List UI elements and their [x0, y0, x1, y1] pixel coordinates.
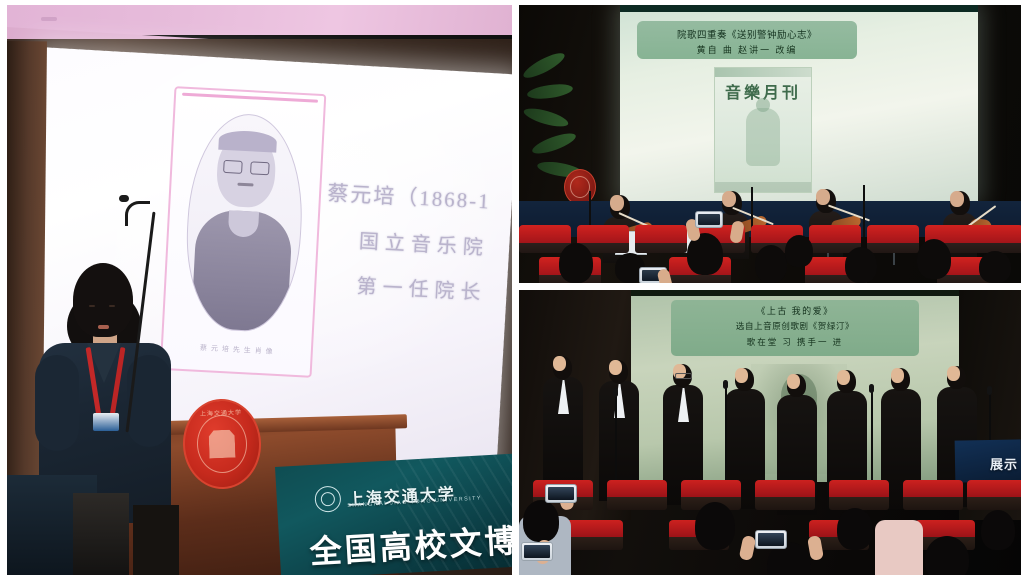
- singer-face: [787, 374, 800, 389]
- microphone-stand: [871, 390, 873, 482]
- emblem-ring-text: 上海交通大学: [184, 407, 258, 419]
- audience-head: [837, 508, 873, 550]
- audience-head: [981, 510, 1015, 550]
- singer-face: [837, 370, 850, 385]
- microphone-icon: [613, 388, 618, 397]
- phone-screen: [548, 487, 574, 500]
- audience-head: [845, 247, 877, 283]
- magazine-cover-image: 音樂月刊: [714, 67, 812, 193]
- phone-screen: [698, 214, 720, 225]
- auditorium-seat: [915, 520, 975, 537]
- glasses-icon: [223, 160, 270, 173]
- audience-hand: [739, 535, 757, 561]
- phone-screen: [758, 533, 784, 546]
- speaker-mouth: [98, 325, 109, 329]
- audience-head: [695, 502, 735, 550]
- auditorium-seat: [971, 225, 1021, 243]
- microphone-gooseneck: [125, 201, 150, 226]
- portrait-caption: 蔡 元 培 先 生 肖 像: [185, 343, 289, 359]
- slide-text-block: 蔡元培（1868-1 国立音乐院 第一任院长: [322, 177, 512, 309]
- singer-face: [609, 360, 622, 375]
- auditorium-seat: [829, 480, 889, 497]
- foreground-column: [133, 505, 179, 575]
- auditorium-seat: [809, 225, 861, 243]
- smartphone-icon: [521, 542, 553, 561]
- auditorium-seat: [563, 520, 623, 537]
- performer-face: [950, 191, 964, 207]
- auditorium-seat: [577, 225, 629, 243]
- slide-line-2: 国立音乐院: [358, 225, 512, 264]
- ceiling-vent-icon: [41, 17, 57, 21]
- plant-leaf: [521, 49, 568, 82]
- foreground-object-mid: [73, 493, 129, 575]
- singer-face: [553, 356, 566, 371]
- slide-caption-line-1: 院歌四重奏《送别警钟励心志》: [647, 27, 847, 41]
- audience-head: [917, 239, 951, 279]
- microphone-icon: [723, 380, 728, 389]
- audience-area: [519, 219, 1021, 283]
- speaker-eye-left: [89, 305, 95, 307]
- auditorium-seat: [903, 480, 963, 497]
- magazine-header-bar: [715, 68, 811, 77]
- microphone-icon: [119, 195, 129, 202]
- exhibition-banner-text: 展示: [990, 454, 1018, 473]
- smartphone-icon: [545, 484, 577, 503]
- audience-head: [785, 235, 813, 267]
- plant-leaf: [530, 130, 578, 158]
- auditorium-seat: [967, 480, 1021, 497]
- auditorium-seat: [635, 225, 687, 243]
- slide-caption-line-2: 黄自 曲 赵讲一 改编: [647, 43, 847, 56]
- audience-head: [559, 243, 593, 283]
- singer-face: [947, 366, 960, 381]
- performer-face: [722, 191, 736, 207]
- microphone-icon: [869, 384, 874, 393]
- choir-panel: 《上古 我的爱》 选自上音原创歌剧《贺绿汀》 歌在堂 习 携手一 进: [519, 290, 1021, 575]
- audience-head: [523, 500, 559, 542]
- portrait-oval: [182, 111, 307, 334]
- smartphone-icon: [695, 211, 723, 228]
- speaker-shoulder-left: [35, 355, 79, 451]
- emblem-inner-ring: [570, 176, 590, 198]
- university-seal-icon: [314, 485, 341, 512]
- slide-caption-line-2: 选自上音原创歌剧《贺绿汀》: [671, 320, 919, 332]
- plant-leaf: [522, 105, 570, 130]
- screen-top-rail: [620, 5, 978, 12]
- smartphone-icon: [755, 530, 787, 549]
- emblem-glyph: [209, 430, 236, 459]
- slide-caption-line-1: 《上古 我的爱》: [671, 304, 919, 317]
- sjtu-round-emblem-icon: [564, 169, 596, 205]
- lecture-panel: 蔡 元 培 先 生 肖 像 蔡元培（1868-1 国立音乐院 第一任院长 上海交…: [7, 5, 512, 575]
- microphone-stand: [725, 386, 727, 482]
- slide-portrait-frame: 蔡 元 培 先 生 肖 像: [160, 86, 327, 378]
- audience-head: [979, 251, 1011, 283]
- event-banner: 上海交通大学 SHANGHAI JIAO TONG UNIVERSITY 全国高…: [275, 453, 512, 575]
- auditorium-seat: [867, 225, 919, 243]
- glasses-icon: [675, 373, 692, 379]
- microphone-stand: [615, 394, 617, 482]
- audience-head: [755, 245, 787, 283]
- phone-screen: [524, 545, 550, 558]
- slide-caption-line-3: 歌在堂 习 携手一 进: [671, 336, 919, 348]
- plant-leaf: [526, 82, 573, 101]
- portrait-hairline: [218, 130, 277, 153]
- audience-shoulder: [875, 520, 923, 575]
- singer-face: [735, 368, 748, 383]
- auditorium-seat: [681, 480, 741, 497]
- auditorium-seat: [755, 480, 815, 497]
- university-logo: 上海交通大学: [314, 479, 456, 513]
- name-badge: [93, 413, 119, 431]
- photo-collage: 蔡 元 培 先 生 肖 像 蔡元培（1868-1 国立音乐院 第一任院长 上海交…: [0, 0, 1024, 575]
- audience-area: [519, 480, 1021, 575]
- ceiling: [7, 5, 512, 35]
- magazine-illustration: [746, 108, 780, 166]
- ensemble-panel: 院歌四重奏《送别警钟励心志》 黄自 曲 赵讲一 改编 音樂月刊: [519, 5, 1021, 283]
- microphone-icon: [987, 386, 992, 395]
- audience-head: [925, 536, 969, 575]
- performer-face: [816, 189, 830, 205]
- event-title: 全国高校文博场: [308, 514, 512, 574]
- screen-top-rail: [629, 290, 959, 296]
- speaker-eye-right: [109, 305, 115, 307]
- singer-face: [891, 368, 904, 383]
- performer-face: [610, 195, 624, 211]
- auditorium-seat: [607, 480, 667, 497]
- auditorium-seat: [519, 225, 571, 243]
